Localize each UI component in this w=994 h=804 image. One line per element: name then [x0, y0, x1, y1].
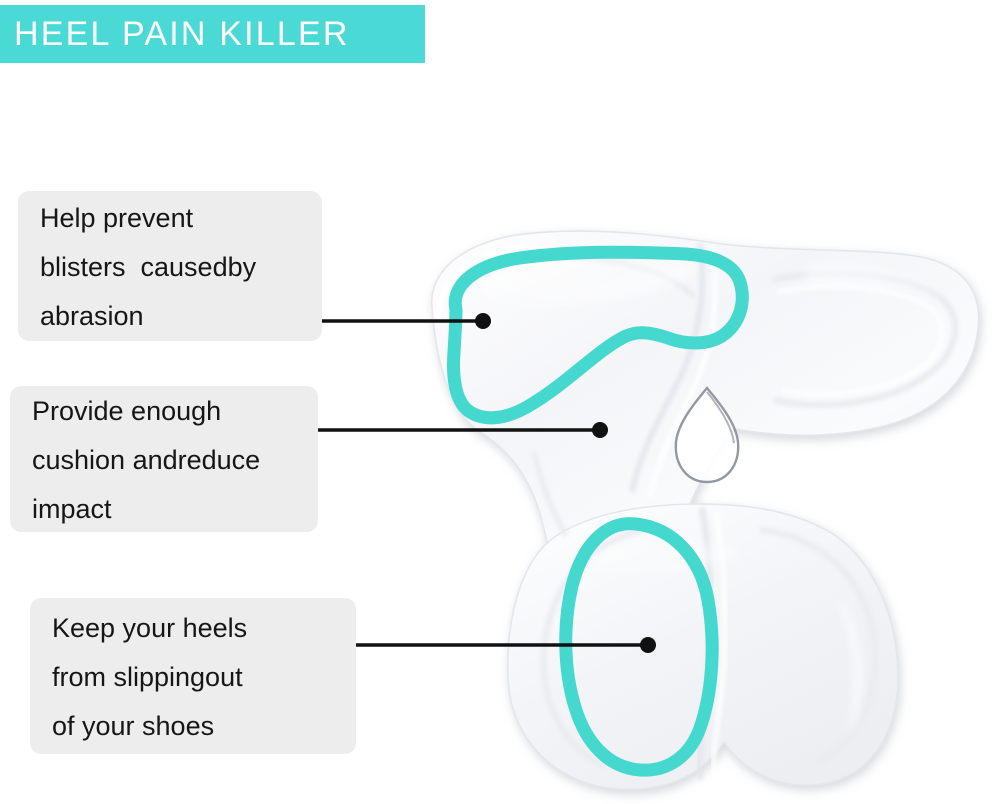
- callout-line: from slippingout: [52, 653, 336, 702]
- callout-line: blisters causedby: [40, 243, 302, 292]
- callout-line: cushion andreduce: [32, 436, 298, 485]
- leader-dot-2: [592, 422, 608, 438]
- leader-line-3: [355, 637, 656, 653]
- banner-title: HEEL PAIN KILLER: [0, 17, 350, 51]
- callout-line: impact: [32, 485, 298, 534]
- leader-dot-3: [640, 637, 656, 653]
- callout-line: Help prevent: [40, 194, 302, 243]
- leader-line-1: [320, 313, 491, 329]
- leader-dot-1: [475, 313, 491, 329]
- leader-line-2: [314, 422, 608, 438]
- callout-cushion-impact: Provide enough cushion andreduce impact: [10, 386, 318, 532]
- callout-line: Keep your heels: [52, 604, 336, 653]
- header-banner: HEEL PAIN KILLER: [0, 5, 425, 63]
- callout-line: abrasion: [40, 292, 302, 341]
- callout-prevent-blisters: Help prevent blisters causedby abrasion: [18, 191, 322, 341]
- callout-line: of your shoes: [52, 702, 336, 751]
- callout-line: Provide enough: [32, 387, 298, 436]
- callout-prevent-slipping: Keep your heels from slippingout of your…: [30, 598, 356, 754]
- infographic-canvas: HEEL PAIN KILLER Help prevent blisters c…: [0, 0, 994, 804]
